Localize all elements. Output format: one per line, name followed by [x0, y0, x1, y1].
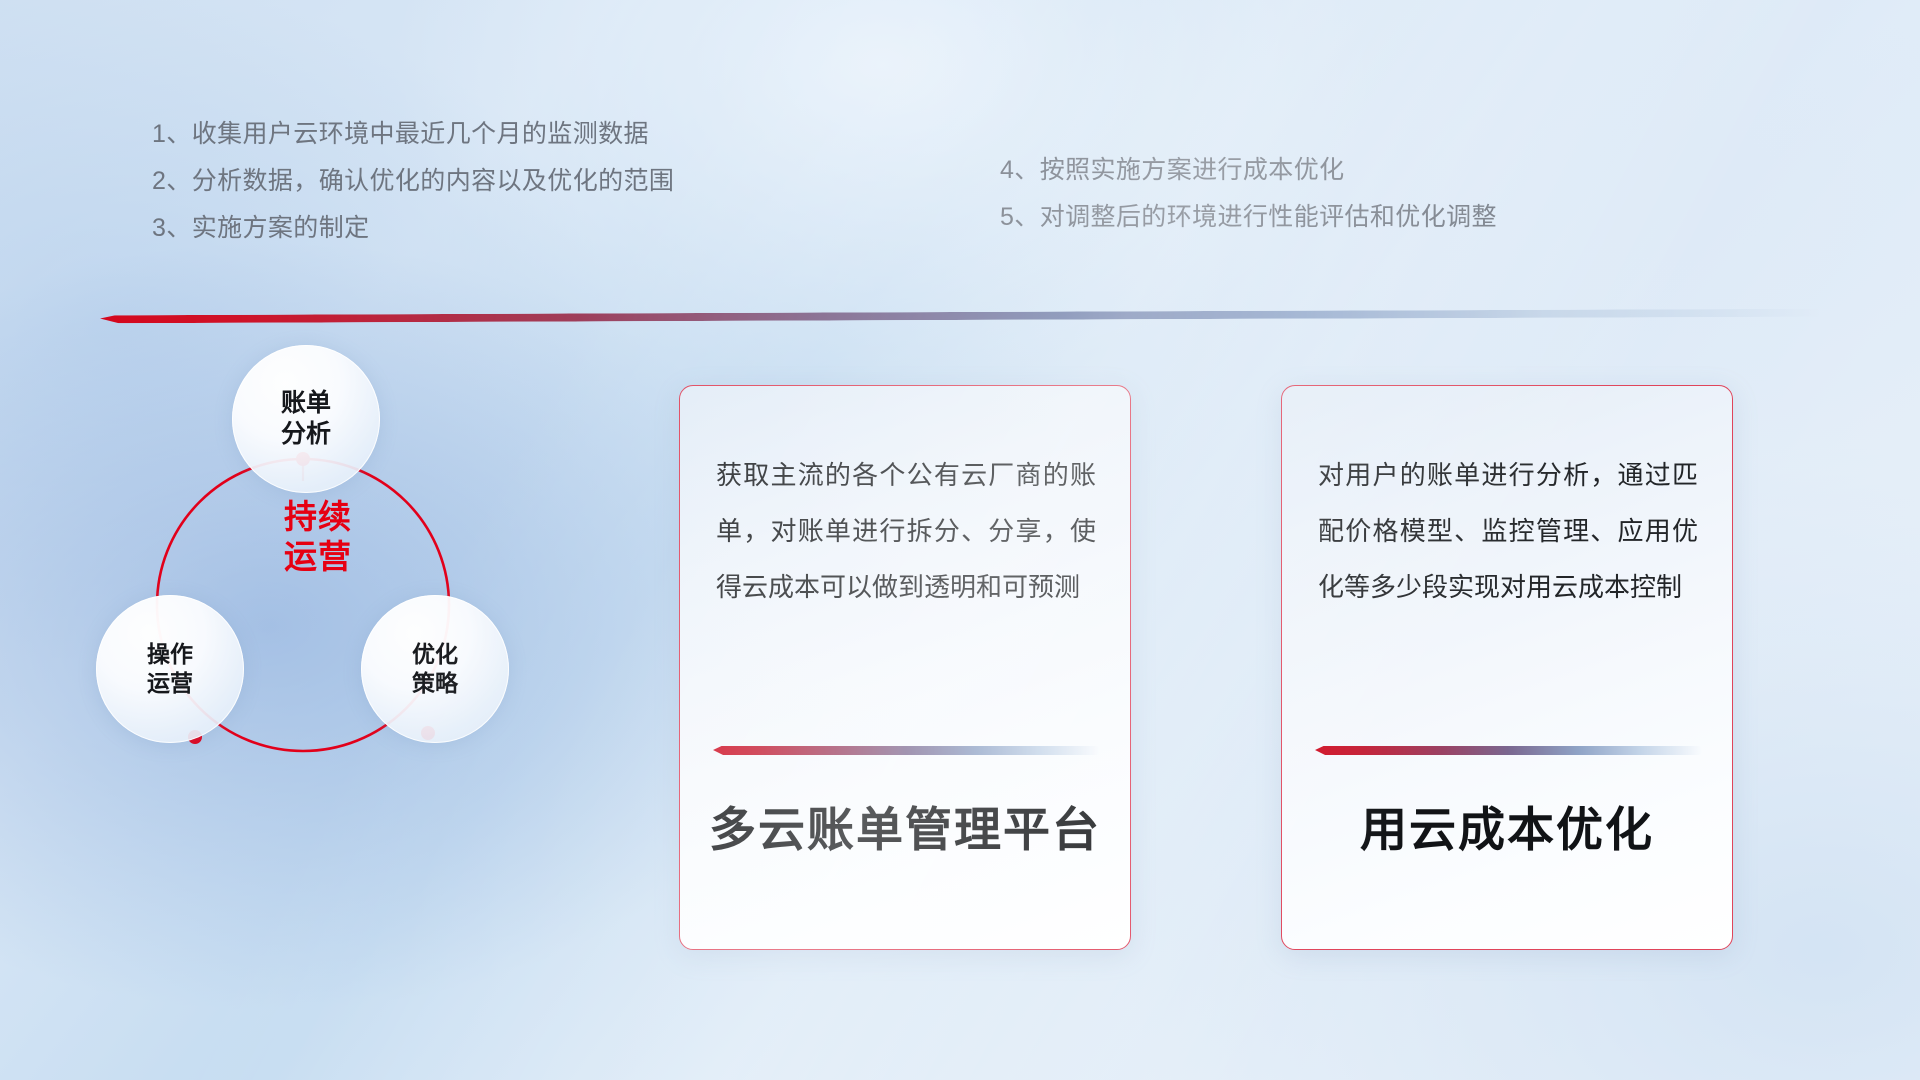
- step-item-4: 4、按照实施方案进行成本优化: [1000, 158, 1497, 183]
- venn-bubble-top-line2: 分析: [281, 419, 331, 450]
- info-card-2-body: 对用户的账单进行分析，通过匹配价格模型、监控管理、应用优化等多少段实现对用云成本…: [1318, 448, 1698, 616]
- section-divider-rule: [100, 309, 1820, 324]
- info-card-1-body: 获取主流的各个公有云厂商的账单，对账单进行拆分、分享，使得云成本可以做到透明和可…: [716, 448, 1096, 616]
- venn-center-label-line1: 持续: [253, 497, 383, 537]
- info-card-1-title: 多云账单管理平台: [680, 791, 1130, 860]
- step-item-2: 2、分析数据，确认优化的内容以及优化的范围: [152, 169, 674, 194]
- venn-bubble-right-line1: 优化: [412, 640, 458, 669]
- step-item-1: 1、收集用户云环境中最近几个月的监测数据: [152, 122, 674, 147]
- venn-bubble-optimization[interactable]: 优化 策略: [361, 595, 509, 743]
- venn-diagram: 账单 分析 操作 运营 优化 策略 持续 运营: [95, 355, 565, 775]
- step-item-5: 5、对调整后的环境进行性能评估和优化调整: [1000, 205, 1497, 230]
- venn-bubble-bill-analysis[interactable]: 账单 分析: [232, 345, 380, 493]
- info-card-cloud-cost-optimization[interactable]: 对用户的账单进行分析，通过匹配价格模型、监控管理、应用优化等多少段实现对用云成本…: [1281, 385, 1733, 950]
- steps-list-left: 1、收集用户云环境中最近几个月的监测数据 2、分析数据，确认优化的内容以及优化的…: [152, 122, 674, 241]
- info-card-2-title: 用云成本优化: [1282, 791, 1732, 860]
- info-card-2-rule: [1315, 746, 1702, 755]
- venn-center-label-line2: 运营: [253, 537, 383, 577]
- venn-bubble-top-line1: 账单: [281, 388, 331, 419]
- slide-canvas: 1、收集用户云环境中最近几个月的监测数据 2、分析数据，确认优化的内容以及优化的…: [0, 0, 1920, 1080]
- venn-bubble-left-line1: 操作: [147, 640, 193, 669]
- info-card-1-rule: [713, 746, 1100, 755]
- venn-center-label: 持续 运营: [253, 497, 383, 578]
- venn-bubble-left-line2: 运营: [147, 669, 193, 698]
- venn-bubble-right-line2: 策略: [412, 669, 458, 698]
- steps-list-right: 4、按照实施方案进行成本优化 5、对调整后的环境进行性能评估和优化调整: [1000, 158, 1497, 230]
- venn-bubble-operations[interactable]: 操作 运营: [96, 595, 244, 743]
- info-card-multicloud-billing[interactable]: 获取主流的各个公有云厂商的账单，对账单进行拆分、分享，使得云成本可以做到透明和可…: [679, 385, 1131, 950]
- step-item-3: 3、实施方案的制定: [152, 216, 674, 241]
